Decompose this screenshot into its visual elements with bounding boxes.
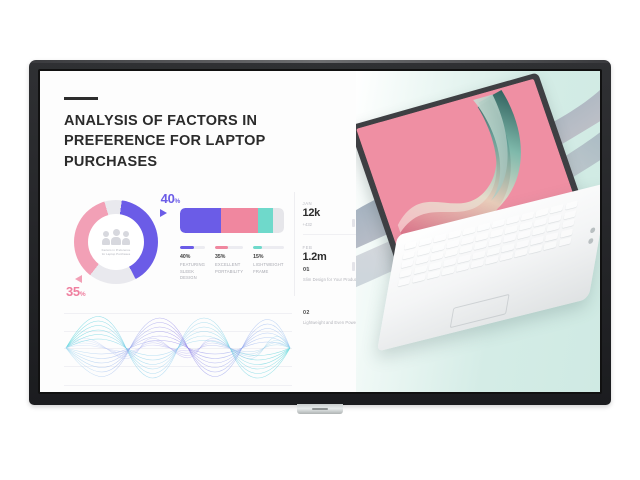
donut-caption-line-2: for Laptop Purchases	[102, 252, 131, 256]
bar-segment-1	[180, 208, 221, 233]
stat-value: 12k	[303, 208, 320, 219]
donut-caption: Factors in Preference for Laptop Purchas…	[102, 248, 131, 256]
page-title: ANALYSIS OF FACTORS IN PREFERENCE FOR LA…	[64, 111, 344, 173]
bar-segment-remainder	[273, 208, 283, 233]
legend-label-line-2: SLEEK DESIGN	[180, 269, 205, 282]
title-rule	[64, 97, 98, 100]
donut-center: Factors in Preference for Laptop Purchas…	[88, 214, 144, 270]
stat-value: 1.2m	[303, 252, 327, 263]
bar-segment-2	[221, 208, 257, 233]
donut-pointer-primary	[160, 209, 167, 217]
donut-chart: Factors in Preference for Laptop Purchas…	[64, 192, 170, 296]
legend-percent: 15%	[253, 254, 283, 260]
legend-label: EXCELLENT PORTABILITY	[215, 262, 243, 275]
wave-chart	[64, 308, 292, 388]
slide-left-panel: ANALYSIS OF FACTORS IN PREFERENCE FOR LA…	[40, 71, 356, 392]
wave-paths	[64, 308, 292, 388]
bar-segment-3	[258, 208, 274, 233]
stacked-bar-track	[180, 208, 284, 233]
screenshot-root: ANALYSIS OF FACTORS IN PREFERENCE FOR LA…	[0, 0, 640, 480]
legend-label-line-1: EXCELLENT	[215, 262, 243, 268]
monitor-screen: ANALYSIS OF FACTORS IN PREFERENCE FOR LA…	[40, 71, 600, 392]
legend-item: 40% FEATURING SLEEK DESIGN	[180, 246, 205, 281]
slide-right-panel	[356, 71, 600, 392]
monitor-bezel: ANALYSIS OF FACTORS IN PREFERENCE FOR LA…	[38, 69, 602, 394]
donut-label-secondary: 35%	[66, 284, 85, 299]
legend-percent: 40%	[180, 254, 205, 260]
legend-track	[215, 246, 243, 249]
legend-percent: 35%	[215, 254, 243, 260]
legend-track	[253, 246, 283, 249]
donut-label-secondary-suffix: %	[80, 291, 85, 298]
title-line-2: PREFERENCE FOR LAPTOP PURCHASES	[64, 131, 344, 172]
legend-label-line-1: LIGHTWEIGHT	[253, 262, 283, 268]
laptop-ports	[588, 227, 596, 244]
legend-item: 35% EXCELLENT PORTABILITY	[215, 246, 243, 281]
legend-label-line-2: FRAME	[253, 269, 283, 275]
donut-caption-line-1: Factors in Preference	[102, 248, 131, 252]
bezel-highlight	[29, 60, 611, 63]
legend-label: LIGHTWEIGHT FRAME	[253, 262, 283, 275]
laptop-product-image	[362, 95, 600, 330]
legend-item: 15% LIGHTWEIGHT FRAME	[253, 246, 283, 281]
legend-track	[180, 246, 205, 249]
monitor-device: ANALYSIS OF FACTORS IN PREFERENCE FOR LA…	[29, 60, 611, 405]
legend-label-line-2: PORTABILITY	[215, 269, 243, 275]
donut-ring: Factors in Preference for Laptop Purchas…	[74, 200, 158, 284]
monitor-stand	[297, 404, 343, 414]
donut-label-primary: 40%	[161, 191, 180, 206]
people-icon	[102, 229, 130, 246]
stacked-bar-chart: 40% FEATURING SLEEK DESIGN 35%	[180, 192, 284, 296]
slide: ANALYSIS OF FACTORS IN PREFERENCE FOR LA…	[40, 71, 600, 392]
factor-legend: 40% FEATURING SLEEK DESIGN 35%	[180, 246, 284, 281]
legend-label-line-1: FEATURING	[180, 262, 205, 268]
legend-label: FEATURING SLEEK DESIGN	[180, 262, 205, 281]
donut-label-primary-value: 40	[161, 191, 175, 206]
donut-pointer-secondary	[75, 275, 82, 283]
title-line-1: ANALYSIS OF FACTORS IN	[64, 111, 344, 132]
stat-delta: +432	[303, 222, 320, 227]
donut-label-secondary-value: 35	[66, 284, 80, 299]
donut-label-primary-suffix: %	[175, 198, 180, 205]
